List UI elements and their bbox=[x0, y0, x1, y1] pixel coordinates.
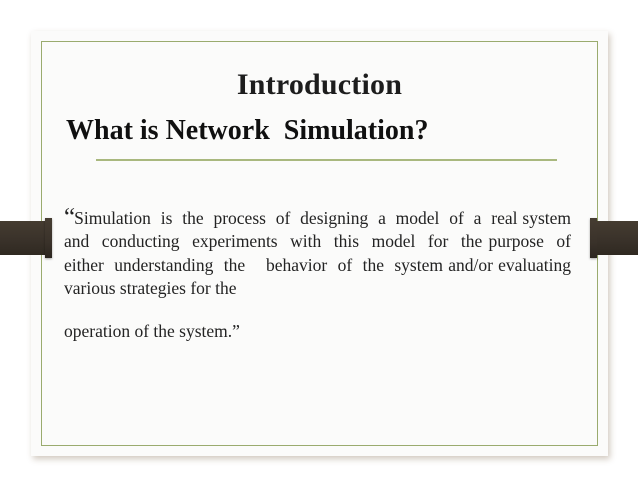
right-ribbon-cap bbox=[590, 218, 597, 258]
left-ribbon-body bbox=[0, 221, 45, 255]
left-ribbon-cap bbox=[45, 218, 52, 258]
title-divider-rule bbox=[96, 159, 557, 161]
body-paragraph-1: “Simulation is the process of designing … bbox=[64, 207, 571, 300]
left-ribbon-decoration bbox=[0, 218, 52, 258]
slide-background: Introduction What is Network Simulation?… bbox=[0, 0, 638, 478]
right-ribbon-body bbox=[597, 221, 638, 255]
body-paragraph-2: operation of the system.” bbox=[64, 320, 571, 343]
presentation-slide: Introduction What is Network Simulation?… bbox=[31, 31, 608, 456]
slide-content: Introduction What is Network Simulation?… bbox=[42, 42, 597, 445]
right-ribbon-decoration bbox=[590, 218, 638, 258]
page-title: Introduction bbox=[64, 68, 575, 101]
open-quote-glyph: “ bbox=[64, 204, 74, 231]
slide-body: “Simulation is the process of designing … bbox=[64, 207, 575, 343]
body-paragraph-1-text: Simulation is the process of designing a… bbox=[64, 208, 580, 298]
slide-subtitle: What is Network Simulation? bbox=[66, 115, 575, 147]
